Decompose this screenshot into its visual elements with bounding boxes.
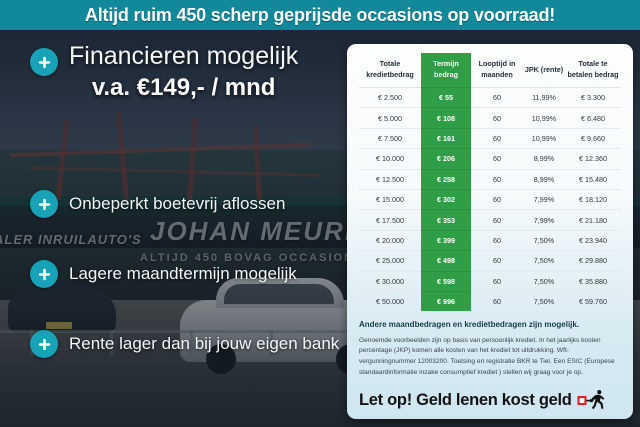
plus-icon [30, 260, 58, 288]
table-cell: 7,50% [523, 271, 565, 291]
table-row: € 30.000€ 598607,50%€ 35.880 [359, 271, 621, 291]
benefit-label: Onbeperkt boetevrij aflossen [69, 194, 285, 214]
table-row: € 5.000€ 1086010,99%€ 6.480 [359, 108, 621, 128]
benefit-label: Lagere maandtermijn mogelijk [69, 264, 297, 284]
table-cell: € 15.480 [565, 169, 621, 189]
ad-banner: ALER INRUILAUTO'S JOHAN MEURE ALTIJD 450… [0, 0, 640, 427]
cell-monthly-amount: € 108 [421, 108, 471, 128]
table-cell: 7,99% [523, 210, 565, 230]
table-cell: 60 [471, 230, 523, 250]
plus-icon [30, 190, 58, 218]
table-cell: 60 [471, 291, 523, 311]
top-banner: Altijd ruim 450 scherp geprijsde occasio… [0, 0, 640, 30]
table-cell: 10,99% [523, 108, 565, 128]
table-cell: 60 [471, 271, 523, 291]
table-cell: 8,99% [523, 169, 565, 189]
table-cell: € 2.500 [359, 88, 421, 108]
table-row: € 25.000€ 498607,50%€ 29.880 [359, 251, 621, 271]
cell-monthly-amount: € 498 [421, 251, 471, 271]
table-cell: € 10.000 [359, 149, 421, 169]
table-header-row: Totale kredietbedrag Termijn bedrag Loop… [359, 53, 621, 88]
table-cell: € 9.660 [565, 128, 621, 148]
cell-monthly-amount: € 55 [421, 88, 471, 108]
hero-claim: Financieren mogelijk v.a. €149,- / mnd [30, 48, 298, 102]
credit-warning-text: Let op! Geld lenen kost geld [359, 391, 572, 410]
cell-monthly-amount: € 598 [421, 271, 471, 291]
table-body: € 2.500€ 556011,99%€ 3.300€ 5.000€ 10860… [359, 88, 621, 312]
top-banner-text: Altijd ruim 450 scherp geprijsde occasio… [85, 5, 555, 26]
cell-monthly-amount: € 258 [421, 169, 471, 189]
table-cell: 60 [471, 149, 523, 169]
table-cell: 7,50% [523, 251, 565, 271]
table-cell: € 20.000 [359, 230, 421, 250]
col-header-total-credit: Totale kredietbedrag [359, 53, 421, 88]
table-cell: € 21.180 [565, 210, 621, 230]
col-header-apr: JPK (rente) [523, 53, 565, 88]
hero-line-1: Financieren mogelijk [69, 42, 298, 71]
legal-body: Genoemde voorbeelden zijn op basis van p… [359, 336, 621, 379]
table-cell: € 18.120 [565, 189, 621, 209]
table-cell: 60 [471, 128, 523, 148]
table-cell: 60 [471, 251, 523, 271]
table-cell: € 23.940 [565, 230, 621, 250]
table-cell: 60 [471, 88, 523, 108]
table-cell: € 25.000 [359, 251, 421, 271]
benefit-item-2: Lagere maandtermijn mogelijk [30, 260, 297, 288]
table-row: € 12.500€ 258608,99%€ 15.480 [359, 169, 621, 189]
table-cell: € 15.000 [359, 189, 421, 209]
table-cell: € 6.480 [565, 108, 621, 128]
legal-disclaimer: Andere maandbedragen en kredietbedragen … [359, 320, 621, 378]
table-cell: 8,99% [523, 149, 565, 169]
table-cell: 60 [471, 108, 523, 128]
table-cell: 60 [471, 210, 523, 230]
table-cell: 7,99% [523, 189, 565, 209]
table-cell: 7,50% [523, 291, 565, 311]
legal-heading: Andere maandbedragen en kredietbedragen … [359, 320, 621, 330]
table-cell: € 17.500 [359, 210, 421, 230]
table-cell: € 3.300 [565, 88, 621, 108]
table-cell: 60 [471, 169, 523, 189]
table-cell: € 50.000 [359, 291, 421, 311]
table-cell: € 12.500 [359, 169, 421, 189]
table-row: € 20.000€ 399607,50%€ 23.940 [359, 230, 621, 250]
running-man-exit-icon [577, 389, 607, 411]
finance-table: Totale kredietbedrag Termijn bedrag Loop… [359, 53, 621, 311]
table-row: € 10.000€ 206608,99%€ 12.360 [359, 149, 621, 169]
plus-icon [30, 330, 58, 358]
benefits-list: Financieren mogelijk v.a. €149,- / mnd O… [0, 30, 348, 427]
col-header-term: Looptijd in maanden [471, 53, 523, 88]
cell-monthly-amount: € 399 [421, 230, 471, 250]
col-header-total-payable: Totale te betalen bedrag [565, 53, 621, 88]
cell-monthly-amount: € 206 [421, 149, 471, 169]
table-cell: € 29.880 [565, 251, 621, 271]
table-cell: 7,50% [523, 230, 565, 250]
credit-warning: Let op! Geld lenen kost geld [359, 389, 607, 411]
table-row: € 50.000€ 996607,50%€ 59.760 [359, 291, 621, 311]
table-cell: € 5.000 [359, 108, 421, 128]
table-row: € 17.500€ 353607,99%€ 21.180 [359, 210, 621, 230]
table-cell: 10,99% [523, 128, 565, 148]
finance-card: Totale kredietbedrag Termijn bedrag Loop… [347, 44, 633, 419]
table-row: € 7.500€ 1616010,99%€ 9.660 [359, 128, 621, 148]
benefit-label: Rente lager dan bij jouw eigen bank [69, 334, 339, 354]
cell-monthly-amount: € 353 [421, 210, 471, 230]
plus-icon [30, 48, 58, 76]
table-cell: € 30.000 [359, 271, 421, 291]
col-header-monthly: Termijn bedrag [421, 53, 471, 88]
table-cell: € 59.760 [565, 291, 621, 311]
table-cell: € 12.360 [565, 149, 621, 169]
cell-monthly-amount: € 161 [421, 128, 471, 148]
table-cell: 60 [471, 189, 523, 209]
cell-monthly-amount: € 996 [421, 291, 471, 311]
table-row: € 2.500€ 556011,99%€ 3.300 [359, 88, 621, 108]
table-cell: € 7.500 [359, 128, 421, 148]
hero-line-2: v.a. €149,- / mnd [92, 74, 276, 102]
table-row: € 15.000€ 302607,99%€ 18.120 [359, 189, 621, 209]
cell-monthly-amount: € 302 [421, 189, 471, 209]
benefit-item-3: Rente lager dan bij jouw eigen bank [30, 330, 339, 358]
table-cell: 11,99% [523, 88, 565, 108]
benefit-item-1: Onbeperkt boetevrij aflossen [30, 190, 285, 218]
table-cell: € 35.880 [565, 271, 621, 291]
